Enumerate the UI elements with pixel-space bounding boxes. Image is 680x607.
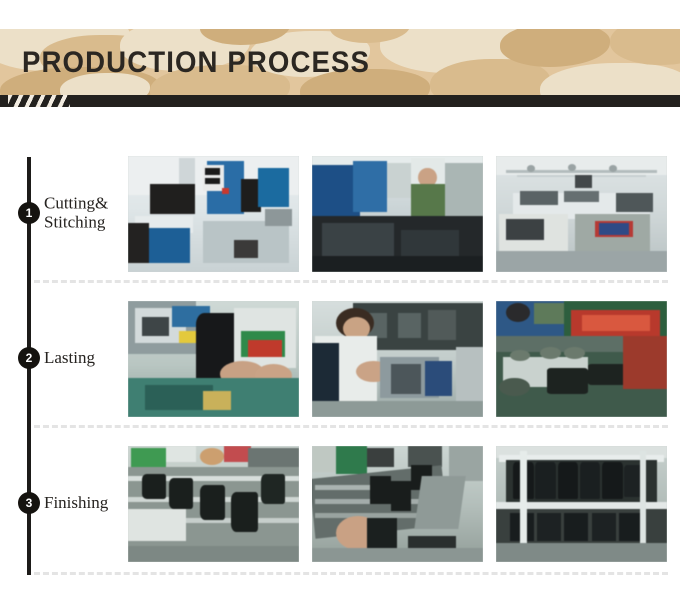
photo-lasting-machine-hands[interactable] bbox=[128, 301, 299, 417]
row-divider-3 bbox=[34, 572, 668, 575]
photo-hand-conveyor-boots[interactable] bbox=[312, 446, 483, 562]
step-photos-2 bbox=[128, 301, 662, 417]
header-banner: PRODUCTION PROCESS bbox=[0, 29, 680, 97]
step-row-1: 1 Cutting& Stitching bbox=[0, 140, 680, 285]
step-label-3: Finishing bbox=[44, 493, 128, 513]
step-number-badge-3: 3 bbox=[18, 492, 40, 514]
steps-list: 1 Cutting& Stitching bbox=[0, 140, 680, 575]
photo-cutting-press-operator[interactable] bbox=[312, 156, 483, 272]
photo-boots-on-rack-conveyor[interactable] bbox=[128, 446, 299, 562]
step-row-3: 3 Finishing bbox=[0, 430, 680, 575]
photo-sole-heat-conveyor[interactable] bbox=[496, 301, 667, 417]
step-label-1: Cutting& Stitching bbox=[44, 193, 128, 232]
hatch-stripes-decoration bbox=[8, 95, 70, 107]
photo-finished-boots-shelf[interactable] bbox=[496, 446, 667, 562]
step-photos-3 bbox=[128, 446, 662, 562]
row-divider-2 bbox=[34, 425, 668, 428]
step-label-2: Lasting bbox=[44, 348, 128, 368]
banner-bottom-strip bbox=[0, 95, 680, 107]
step-row-2: 2 Lasting bbox=[0, 285, 680, 430]
photo-lasting-operator[interactable] bbox=[312, 301, 483, 417]
step-number-badge-1: 1 bbox=[18, 202, 40, 224]
photo-cutting-machine[interactable] bbox=[128, 156, 299, 272]
photo-stitching-line[interactable] bbox=[496, 156, 667, 272]
row-divider-1 bbox=[34, 280, 668, 283]
page-title: PRODUCTION PROCESS bbox=[22, 46, 370, 80]
step-photos-1 bbox=[128, 156, 662, 272]
production-process-page: PRODUCTION PROCESS 1 Cutting& Stitching bbox=[0, 0, 680, 607]
step-number-badge-2: 2 bbox=[18, 347, 40, 369]
